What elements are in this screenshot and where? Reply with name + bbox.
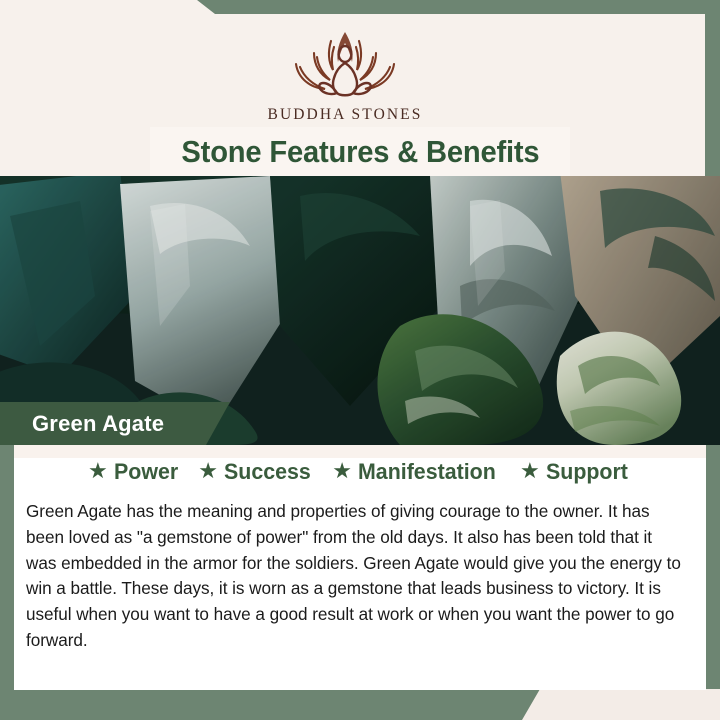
stone-name-badge: Green Agate: [0, 402, 230, 445]
lotus-meditation-icon: [270, 26, 420, 102]
title-banner: Stone Features & Benefits: [150, 127, 570, 176]
benefit-label: Success: [224, 459, 311, 485]
stone-name-label: Green Agate: [32, 411, 164, 437]
benefits-row: ★ Power ★ Success ★ Manifestation ★ Supp…: [14, 459, 706, 485]
page-title: Stone Features & Benefits: [181, 134, 539, 170]
panel-top-tint: [14, 445, 706, 458]
benefit-item-success: ★ Success: [198, 459, 315, 485]
brand-wordmark: BUDDHA STONES: [268, 106, 423, 124]
benefit-label: Support: [546, 459, 628, 485]
benefit-item-support: ★ Support: [520, 459, 632, 485]
benefit-item-manifestation: ★ Manifestation: [332, 459, 503, 485]
description-text: Green Agate has the meaning and properti…: [26, 499, 681, 654]
description-panel: ★ Power ★ Success ★ Manifestation ★ Supp…: [14, 445, 706, 690]
benefit-label: Manifestation: [358, 459, 496, 485]
stone-features-infographic: BUDDHA STONES Stone Features & Benefits: [0, 0, 720, 720]
brand-logo: BUDDHA STONES: [0, 26, 690, 124]
benefit-item-power: ★ Power: [88, 459, 181, 485]
star-icon: ★: [88, 460, 108, 482]
star-icon: ★: [520, 460, 540, 482]
star-icon: ★: [332, 460, 352, 482]
benefit-label: Power: [114, 459, 178, 485]
star-icon: ★: [198, 460, 218, 482]
